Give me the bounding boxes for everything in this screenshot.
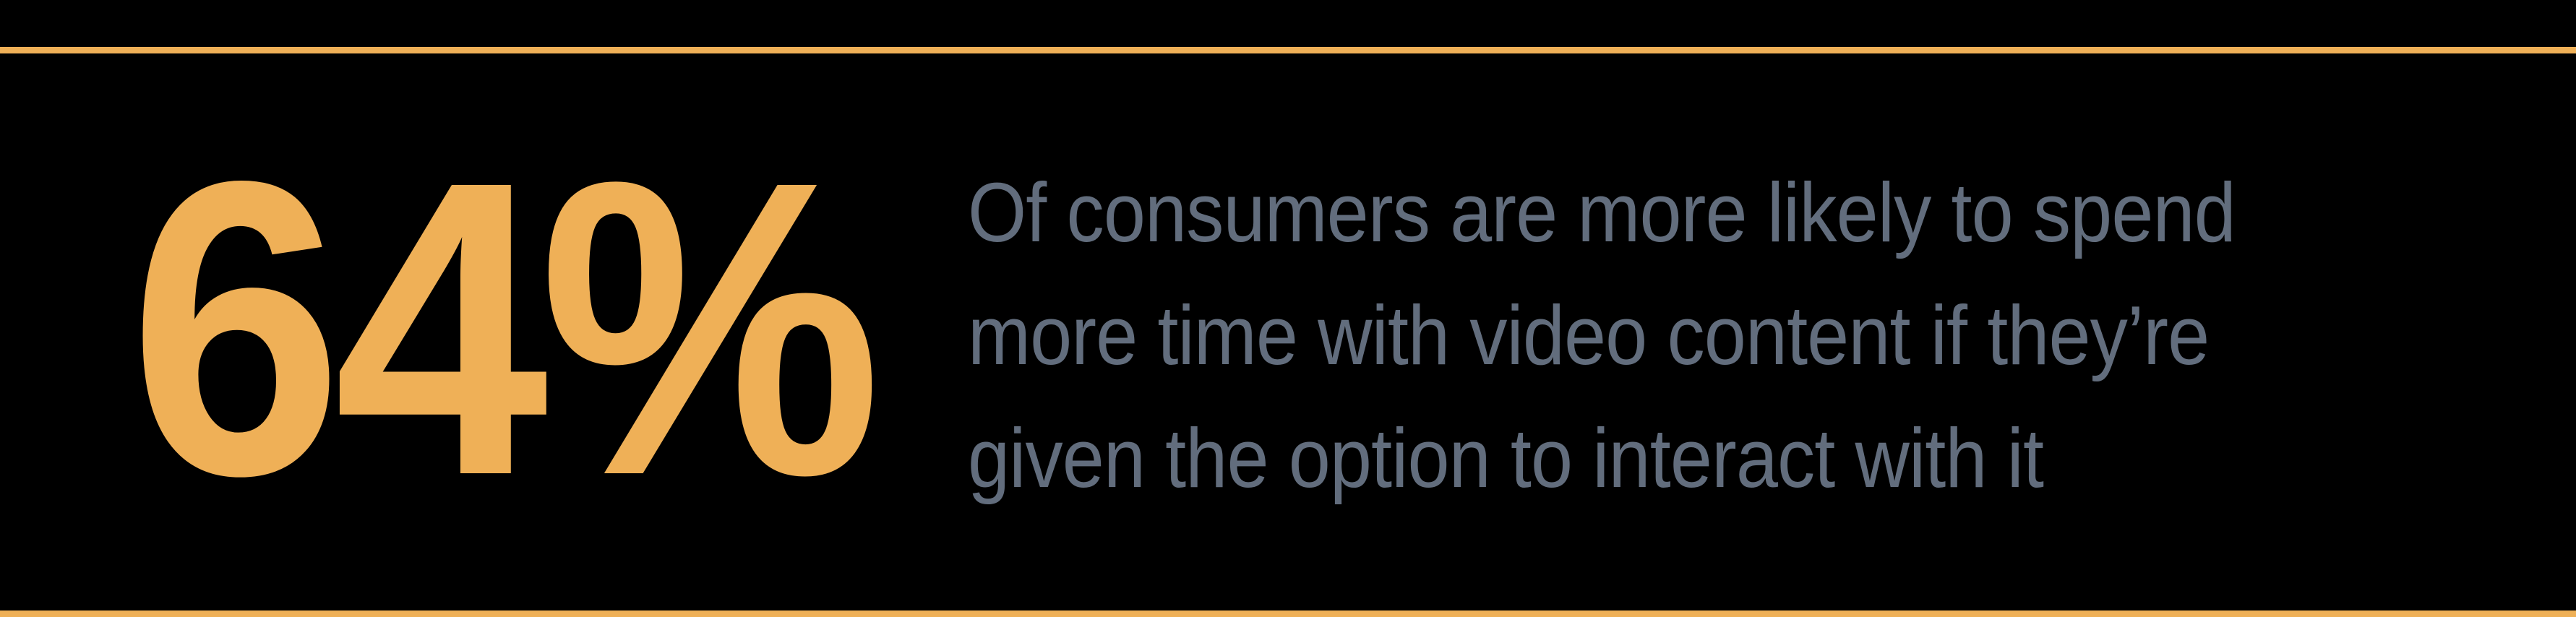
stat-percentage-value: 64%	[129, 160, 872, 496]
stat-description-line-1: Of consumers are more likely to spend	[968, 151, 2236, 274]
top-divider	[0, 47, 2576, 53]
stat-banner: 64% Of consumers are more likely to spen…	[0, 0, 2576, 617]
stat-content-row: 64% Of consumers are more likely to spen…	[0, 53, 2576, 610]
stat-description-line-3: given the option to interact with it	[968, 397, 2236, 519]
stat-description-line-2: more time with video content if they’re	[968, 274, 2236, 397]
stat-description: Of consumers are more likely to spend mo…	[968, 151, 2236, 519]
bottom-divider	[0, 610, 2576, 617]
